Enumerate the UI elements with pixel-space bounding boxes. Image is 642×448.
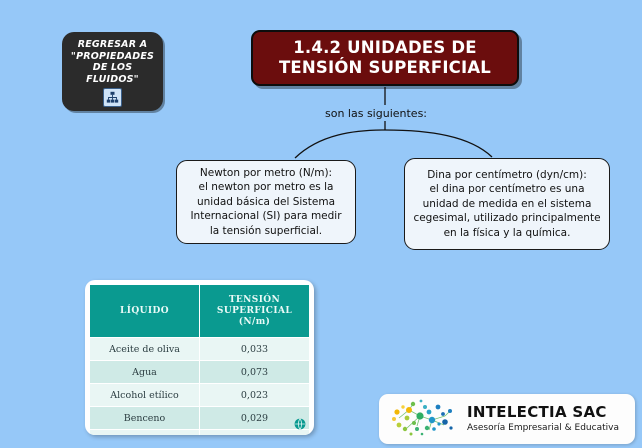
table-header-tension-line2: SUPERFICIAL xyxy=(202,306,307,317)
logo-text-block: INTELECTIA SAC Asesoría Empresarial & Ed… xyxy=(467,404,619,434)
return-button-label: REGRESAR A "PROPIEDADES DE LOS FLUIDOS" xyxy=(71,39,154,85)
table-header-tension-line3: (N/m) xyxy=(202,317,307,328)
table-header-liquid: LÍQUIDO xyxy=(90,285,200,338)
page-title-text: 1.4.2 UNIDADES DE TENSIÓN SUPERFICIAL xyxy=(279,38,491,78)
logo-title: INTELECTIA SAC xyxy=(467,404,619,421)
table-row: Alcohol etílico 0,023 xyxy=(90,384,310,407)
cell-liquid: Agua xyxy=(90,361,200,384)
page-title: 1.4.2 UNIDADES DE TENSIÓN SUPERFICIAL xyxy=(251,30,519,86)
cell-liquid: Benceno xyxy=(90,407,200,430)
connector-label: son las siguientes: xyxy=(325,107,427,120)
cell-liquid: Alcohol etílico xyxy=(90,384,200,407)
surface-tension-table-card: LÍQUIDO TENSIÓN SUPERFICIAL (N/m) Aceite… xyxy=(85,280,314,435)
cell-liquid: Aceite de oliva xyxy=(90,338,200,361)
cell-value: 0,029 xyxy=(200,407,310,430)
table-header-tension: TENSIÓN SUPERFICIAL (N/m) xyxy=(200,285,310,338)
hierarchy-icon xyxy=(103,88,122,107)
cell-value: 0,059 xyxy=(200,430,310,436)
table-row: Agua 0,073 xyxy=(90,361,310,384)
table-header-liquid-label: LÍQUIDO xyxy=(92,306,197,317)
table-row: Benceno 0,029 xyxy=(90,407,310,430)
table-row: Glicerina 0,059 xyxy=(90,430,310,436)
return-to-properties-button[interactable]: REGRESAR A "PROPIEDADES DE LOS FLUIDOS" xyxy=(62,32,163,111)
surface-tension-table: LÍQUIDO TENSIÓN SUPERFICIAL (N/m) Aceite… xyxy=(89,284,310,435)
cell-value: 0,023 xyxy=(200,384,310,407)
logo-subtitle: Asesoría Empresarial & Educativa xyxy=(467,422,619,434)
slide-canvas: REGRESAR A "PROPIEDADES DE LOS FLUIDOS" … xyxy=(0,0,642,448)
cell-value: 0,073 xyxy=(200,361,310,384)
info-box-newton-text: Newton por metro (N/m): el newton por me… xyxy=(190,166,341,239)
info-box-dina-text: Dina por centímetro (dyn/cm): el dina po… xyxy=(413,168,600,241)
network-nodes-icon xyxy=(387,398,461,440)
cell-liquid: Glicerina xyxy=(90,430,200,436)
table-header-tension-line1: TENSIÓN xyxy=(202,295,307,306)
company-logo-card: INTELECTIA SAC Asesoría Empresarial & Ed… xyxy=(379,394,635,444)
info-box-dina-por-centimetro: Dina por centímetro (dyn/cm): el dina po… xyxy=(404,158,610,250)
cell-value: 0,033 xyxy=(200,338,310,361)
info-box-newton-por-metro: Newton por metro (N/m): el newton por me… xyxy=(176,160,356,244)
table-row: Aceite de oliva 0,033 xyxy=(90,338,310,361)
globe-icon xyxy=(294,415,306,427)
table-header-row: LÍQUIDO TENSIÓN SUPERFICIAL (N/m) xyxy=(90,285,310,338)
